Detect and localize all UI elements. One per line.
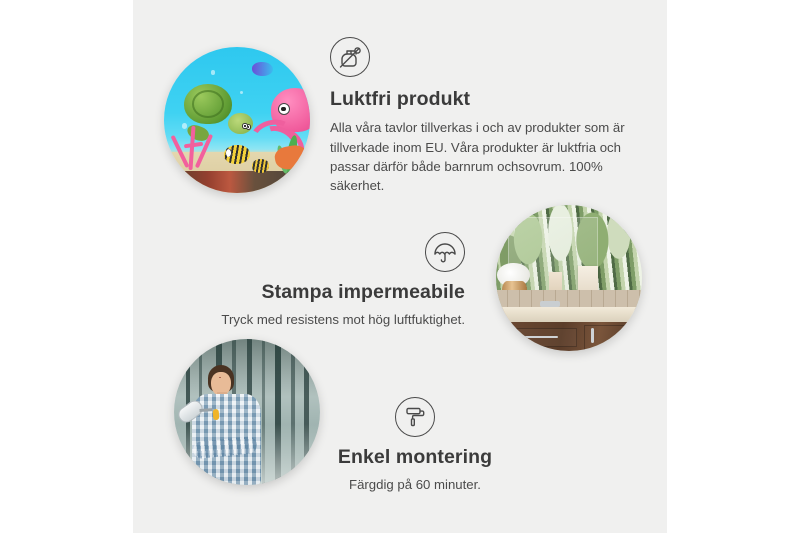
no-odour-spray-bottle-icon (330, 37, 370, 77)
feature-image-woman-paint-roller (174, 339, 320, 485)
striped-fish-icon (224, 145, 250, 164)
octopus-illustration (260, 88, 310, 149)
forest-mural-photo (174, 339, 320, 485)
turtle-head (228, 113, 252, 134)
feature-heading: Enkel montering (300, 445, 530, 469)
feature-image-underwater-cartoon (164, 47, 310, 193)
striped-fish-icon (252, 159, 270, 172)
octopus-eye (278, 103, 291, 116)
feature-body-text: Färgdig på 60 minuter. (300, 475, 530, 494)
paint-roller-icon (395, 397, 435, 437)
coral-illustration (173, 126, 217, 170)
bathroom-scene-photo (496, 205, 642, 351)
underwater-scene-illustration (164, 47, 310, 193)
woman-illustration (189, 365, 265, 485)
icon-row (300, 397, 530, 437)
feature-heading: Luktfri produkt (330, 87, 630, 111)
feature-body-text: Tryck med resistens mot hög luftfuktighe… (200, 310, 465, 329)
vanity-door (584, 325, 636, 351)
feature-heading: Stampa impermeabile (200, 280, 465, 304)
turtle-eye (242, 123, 247, 128)
feature-body-text: Alla våra tavlor tillverkas i och av pro… (330, 118, 630, 195)
screenshot-canvas: Luktfri produkt Alla våra tavlor tillver… (0, 0, 800, 533)
sea-floor-rocks (164, 171, 310, 193)
feature-image-bathroom-botanical (496, 205, 642, 351)
vanity-drawer (505, 328, 577, 347)
feature-text-luktfri-produkt: Luktfri produkt Alla våra tavlor tillver… (330, 37, 630, 195)
icon-row (200, 232, 465, 272)
feature-text-stampa-impermeabile: Stampa impermeabile Tryck med resistens … (200, 232, 465, 330)
wood-vanity-cabinet (496, 322, 642, 351)
feature-text-enkel-montering: Enkel montering Färgdig på 60 minuter. (300, 397, 530, 495)
woman-smile (219, 377, 221, 378)
turtle-shell (184, 84, 232, 125)
purple-fish-icon (252, 62, 274, 77)
bubble-icon (211, 70, 215, 74)
umbrella-waterproof-icon (425, 232, 465, 272)
